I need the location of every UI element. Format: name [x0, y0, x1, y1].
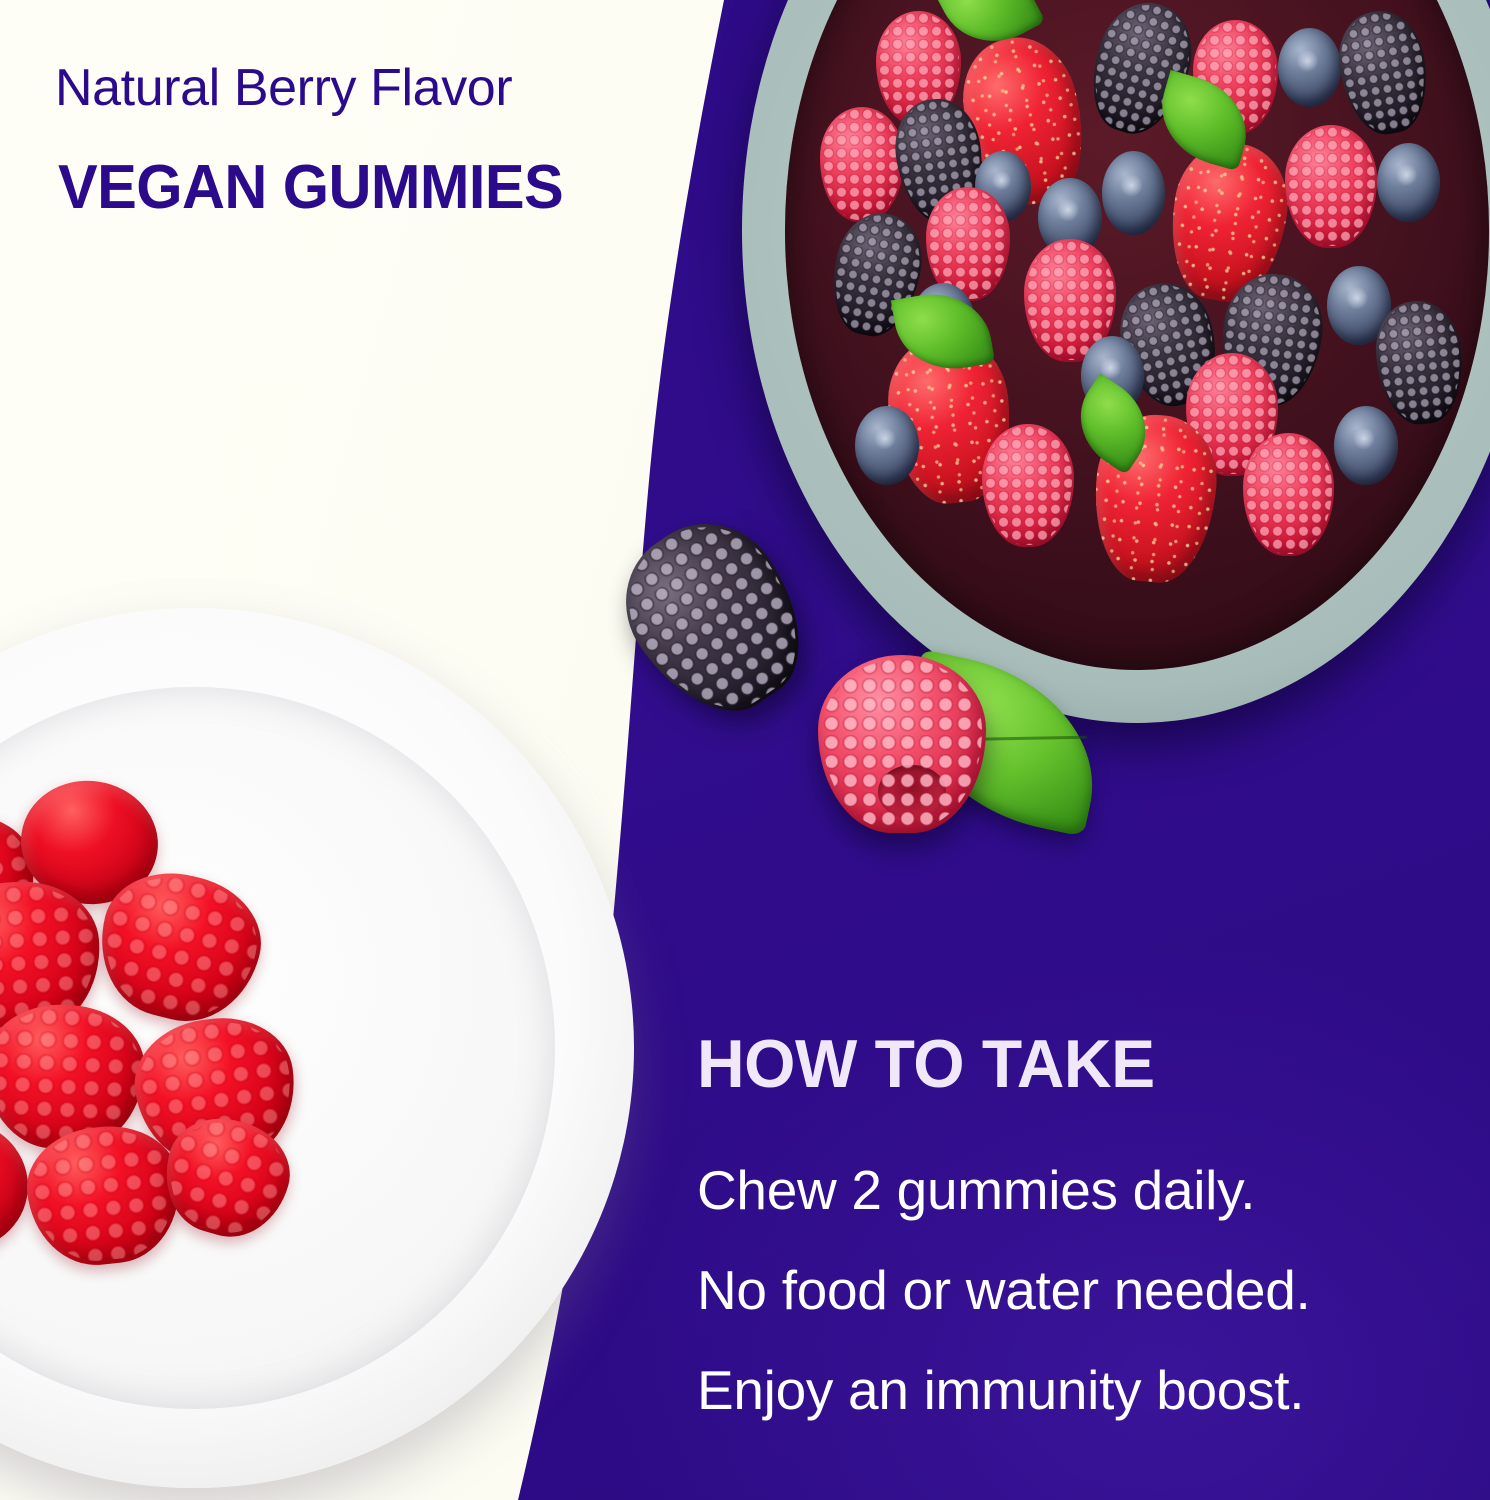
- blackberry: [1370, 297, 1467, 428]
- how-to-take-line: No food or water needed.: [697, 1263, 1457, 1318]
- sage-ceramic-bowl: [742, 0, 1490, 723]
- raspberry: [1285, 125, 1377, 248]
- how-to-take-line: Chew 2 gummies daily.: [697, 1163, 1457, 1218]
- bowl-interior: [785, 0, 1490, 670]
- mixed-berry-bowl-image: [742, 0, 1490, 723]
- raspberry-hollow: [878, 765, 945, 818]
- raspberry: [820, 107, 905, 221]
- blueberry: [1102, 151, 1165, 234]
- accent-raspberry: [818, 655, 986, 833]
- flavor-kicker: Natural Berry Flavor: [55, 58, 512, 118]
- blueberry: [1334, 406, 1397, 485]
- raspberry: [982, 424, 1074, 547]
- blueberry: [1377, 143, 1440, 222]
- gummies-bowl-image: [0, 608, 634, 1488]
- how-to-take-list: Chew 2 gummies daily. No food or water n…: [697, 1163, 1457, 1418]
- blackberry: [1331, 4, 1436, 140]
- product-headline: VEGAN GUMMIES: [58, 152, 563, 223]
- product-infographic: Natural Berry Flavor VEGAN GUMMIES HOW T…: [0, 0, 1490, 1500]
- blueberry: [1278, 28, 1341, 107]
- blueberry: [855, 406, 918, 485]
- dish-well: [0, 687, 555, 1409]
- white-ceramic-dish: [0, 608, 634, 1488]
- raspberry: [1243, 433, 1335, 556]
- how-to-take-line: Enjoy an immunity boost.: [697, 1363, 1457, 1418]
- how-to-take-title: HOW TO TAKE: [697, 1025, 1155, 1103]
